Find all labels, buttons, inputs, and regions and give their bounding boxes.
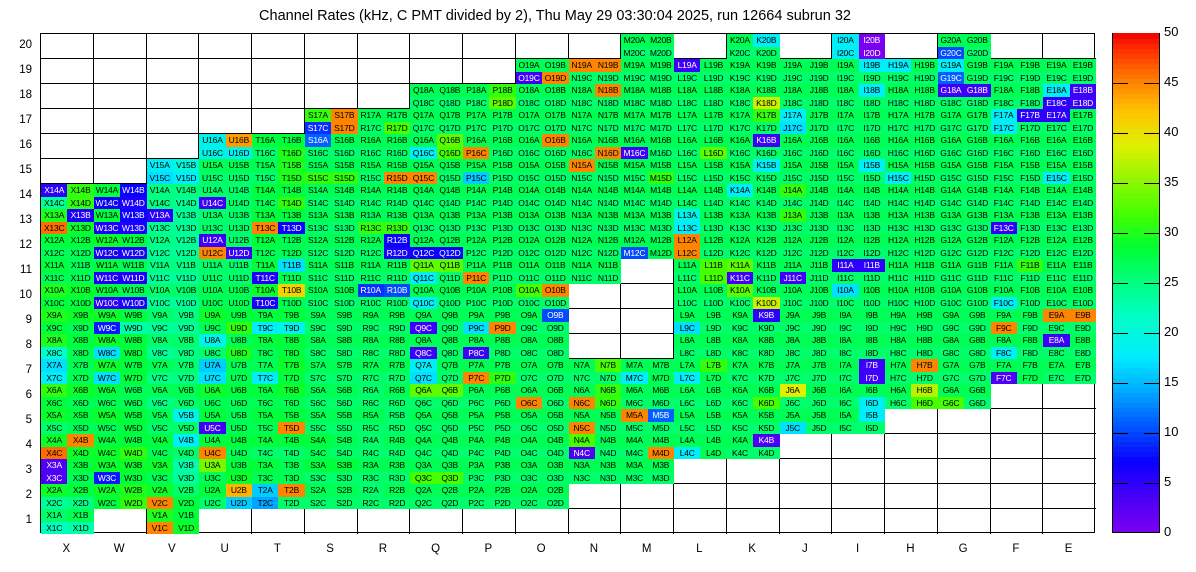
pmt-channel-L5A: L5A: [674, 409, 700, 422]
pmt-channel-Q13C: Q13C: [410, 222, 436, 235]
grid-cell-T20: [252, 34, 305, 59]
pmt-channel-E11B: E11B: [1070, 259, 1096, 272]
grid-cell-S10: S10AS10BS10CS10D: [305, 284, 358, 309]
grid-cell-N5: N5AN5BN5CN5D: [569, 409, 622, 434]
pmt-channel-P14A: P14A: [463, 184, 489, 197]
grid-cell-Q9: Q9AQ9BQ9CQ9D: [410, 309, 463, 334]
pmt-channel-G9C: G9C: [938, 322, 964, 335]
grid-cell-M17: M17AM17BM17CM17D: [621, 109, 674, 134]
pmt-channel-S14D: S14D: [331, 197, 357, 210]
pmt-channel-E7B: E7B: [1070, 359, 1096, 372]
grid-cell-F11: F11AF11BF11CF11D: [991, 259, 1044, 284]
pmt-channel-V8C: V8C: [147, 347, 173, 360]
pmt-channel-I10D: I10D: [859, 297, 885, 310]
grid-cell-H11: H11AH11BH11CH11D: [885, 259, 938, 284]
grid-cell-W12: W12AW12BW12CW12D: [94, 234, 147, 259]
pmt-channel-G9A: G9A: [938, 309, 964, 322]
pmt-channel-S3A: S3A: [305, 459, 331, 472]
pmt-channel-N6B: N6B: [595, 384, 621, 397]
grid-cell-S2: S2AS2BS2CS2D: [305, 484, 358, 509]
pmt-channel-R9D: R9D: [384, 322, 410, 335]
grid-cell-I6: I6AI6BI6CI6D: [832, 384, 885, 409]
pmt-channel-M3D: M3D: [648, 472, 674, 485]
pmt-channel-O11C: O11C: [516, 272, 542, 285]
grid-cell-J10: J10AJ10BJ10CJ10D: [780, 284, 833, 309]
pmt-channel-P13C: P13C: [463, 222, 489, 235]
pmt-channel-M4A: M4A: [621, 434, 647, 447]
pmt-channel-N18B: N18B: [595, 84, 621, 97]
grid-cell-O16: O16AO16BO16CO16D: [516, 134, 569, 159]
grid-cell-Q16: Q16AQ16BQ16CQ16D: [410, 134, 463, 159]
pmt-channel-V7C: V7C: [147, 372, 173, 385]
pmt-channel-J5B: J5B: [806, 409, 832, 422]
pmt-channel-Q7C: Q7C: [410, 372, 436, 385]
pmt-channel-K6B: K6B: [753, 384, 779, 397]
pmt-channel-L9D: L9D: [700, 322, 726, 335]
grid-cell-W4: W4AW4BW4CW4D: [94, 434, 147, 459]
pmt-channel-L11B: L11B: [700, 259, 726, 272]
grid-cell-R7: R7AR7BR7CR7D: [358, 359, 411, 384]
pmt-channel-S10D: S10D: [331, 297, 357, 310]
pmt-channel-P5B: P5B: [489, 409, 515, 422]
pmt-channel-W5B: W5B: [120, 409, 146, 422]
grid-cell-I1: [832, 509, 885, 534]
grid-cell-G16: G16AG16BG16CG16D: [938, 134, 991, 159]
pmt-channel-N15A: N15A: [569, 159, 595, 172]
pmt-channel-F7B: F7B: [1017, 359, 1043, 372]
pmt-channel-G17D: G17D: [964, 122, 990, 135]
pmt-channel-K15C: K15C: [727, 172, 753, 185]
pmt-channel-P16D: P16D: [489, 147, 515, 160]
grid-cell-O2: O2AO2BO2CO2D: [516, 484, 569, 509]
pmt-channel-U11D: U11D: [226, 272, 252, 285]
pmt-channel-Q9C: Q9C: [410, 322, 436, 335]
pmt-channel-V13D: V13D: [173, 222, 199, 235]
grid-cell-X13: X13AX13BX13CX13D: [41, 209, 94, 234]
grid-cell-U4: U4AU4BU4CU4D: [199, 434, 252, 459]
grid-cell-O1: [516, 509, 569, 534]
pmt-channel-N18D: N18D: [595, 97, 621, 110]
grid-cell-M16: M16AM16BM16CM16D: [621, 134, 674, 159]
pmt-channel-R17A: R17A: [358, 109, 384, 122]
pmt-channel-M14A: M14A: [621, 184, 647, 197]
grid-cell-G3: [938, 459, 991, 484]
pmt-channel-W12D: W12D: [120, 247, 146, 260]
pmt-channel-W14D: W14D: [120, 197, 146, 210]
grid-cell-S18: [305, 84, 358, 109]
pmt-channel-M15B: M15B: [648, 159, 674, 172]
pmt-channel-J11C: J11C: [780, 272, 806, 285]
pmt-channel-U2A: U2A: [199, 484, 225, 497]
grid-cell-P3: P3AP3BP3CP3D: [463, 459, 516, 484]
grid-cell-J16: J16AJ16BJ16CJ16D: [780, 134, 833, 159]
grid-cell-P11: P11AP11BP11CP11D: [463, 259, 516, 284]
x-axis-tick-P: P: [458, 543, 518, 555]
pmt-channel-U15A: U15A: [199, 159, 225, 172]
pmt-channel-F15C: F15C: [991, 172, 1017, 185]
pmt-channel-U11A: U11A: [199, 259, 225, 272]
pmt-channel-F19D: F19D: [1017, 72, 1043, 85]
grid-cell-S7: S7AS7BS7CS7D: [305, 359, 358, 384]
pmt-channel-J17C: J17C: [780, 122, 806, 135]
palette-band: [1113, 507, 1159, 513]
pmt-channel-I20D: I20D: [859, 47, 885, 60]
grid-cell-Q19: [410, 59, 463, 84]
pmt-channel-O12A: O12A: [516, 234, 542, 247]
pmt-channel-O10B: O10B: [542, 284, 568, 297]
pmt-channel-P17A: P17A: [463, 109, 489, 122]
grid-cell-I3: [832, 459, 885, 484]
pmt-channel-T12C: T12C: [252, 247, 278, 260]
grid-cell-X11: X11AX11BX11CX11D: [41, 259, 94, 284]
pmt-channel-W2C: W2C: [94, 497, 120, 510]
pmt-channel-R2C: R2C: [358, 497, 384, 510]
pmt-channel-J17A: J17A: [780, 109, 806, 122]
pmt-channel-K5B: K5B: [753, 409, 779, 422]
grid-cell-F18: F18AF18BF18CF18D: [991, 84, 1044, 109]
pmt-channel-R14D: R14D: [384, 197, 410, 210]
grid-cell-O17: O17AO17BO17CO17D: [516, 109, 569, 134]
pmt-channel-F11B: F11B: [1017, 259, 1043, 272]
pmt-channel-J12C: J12C: [780, 247, 806, 260]
palette-label-20: 20: [1164, 324, 1178, 339]
pmt-channel-K16A: K16A: [727, 134, 753, 147]
pmt-channel-U13A: U13A: [199, 209, 225, 222]
pmt-channel-U12B: U12B: [226, 234, 252, 247]
pmt-channel-E9C: E9C: [1043, 322, 1069, 335]
pmt-channel-W8C: W8C: [94, 347, 120, 360]
pmt-channel-M14D: M14D: [648, 197, 674, 210]
heatmap-grid: X1AX1BX1CX1DX2AX2BX2CX2DX3AX3BX3CX3DX4AX…: [41, 34, 1094, 532]
grid-cell-J1: [780, 509, 833, 534]
pmt-channel-H16C: H16C: [885, 147, 911, 160]
pmt-channel-G19C: G19C: [938, 72, 964, 85]
pmt-channel-O16A: O16A: [516, 134, 542, 147]
pmt-channel-N13D: N13D: [595, 222, 621, 235]
grid-cell-L15: L15AL15BL15CL15D: [674, 159, 727, 184]
palette-band: [1113, 193, 1159, 199]
pmt-channel-U8C: U8C: [199, 347, 225, 360]
pmt-channel-S6C: S6C: [305, 397, 331, 410]
grid-cell-U14: U14AU14BU14CU14D: [199, 184, 252, 209]
grid-cell-F1: [991, 509, 1044, 534]
pmt-channel-M18D: M18D: [648, 97, 674, 110]
pmt-channel-L7A: L7A: [674, 359, 700, 372]
grid-cell-R13: R13AR13BR13CR13D: [358, 209, 411, 234]
pmt-channel-L14A: L14A: [674, 184, 700, 197]
pmt-channel-U2C: U2C: [199, 497, 225, 510]
grid-cell-V9: V9AV9BV9CV9D: [147, 309, 200, 334]
pmt-channel-U9C: U9C: [199, 322, 225, 335]
pmt-channel-T11D: T11D: [278, 272, 304, 285]
pmt-channel-R7B: R7B: [384, 359, 410, 372]
pmt-channel-N11A: N11A: [569, 259, 595, 272]
pmt-channel-O6D: O6D: [542, 397, 568, 410]
pmt-channel-O10C: O10C: [516, 297, 542, 310]
grid-cell-G10: G10AG10BG10CG10D: [938, 284, 991, 309]
pmt-channel-I15B: I15B: [859, 159, 885, 172]
pmt-channel-G11D: G11D: [964, 272, 990, 285]
pmt-channel-L18A: L18A: [674, 84, 700, 97]
pmt-channel-F14A: F14A: [991, 184, 1017, 197]
pmt-channel-O12C: O12C: [516, 247, 542, 260]
pmt-channel-S16C: S16C: [305, 147, 331, 160]
x-axis-tick-O: O: [511, 543, 571, 555]
pmt-channel-P12A: P12A: [463, 234, 489, 247]
pmt-channel-E10C: E10C: [1043, 297, 1069, 310]
pmt-channel-I13C: I13C: [832, 222, 858, 235]
pmt-channel-Q5D: Q5D: [437, 422, 463, 435]
pmt-channel-E19C: E19C: [1043, 72, 1069, 85]
pmt-channel-X4A: X4A: [41, 434, 67, 447]
pmt-channel-Q7D: Q7D: [437, 372, 463, 385]
grid-cell-O4: O4AO4BO4CO4D: [516, 434, 569, 459]
grid-cell-K16: K16AK16BK16CK16D: [727, 134, 780, 159]
pmt-channel-K16B: K16B: [753, 134, 779, 147]
pmt-channel-Q15A: Q15A: [410, 159, 436, 172]
pmt-channel-E8B: E8B: [1070, 334, 1096, 347]
pmt-channel-R11B: R11B: [384, 259, 410, 272]
pmt-channel-T13A: T13A: [252, 209, 278, 222]
grid-cell-G9: G9AG9BG9CG9D: [938, 309, 991, 334]
pmt-channel-X13A: X13A: [41, 209, 67, 222]
pmt-channel-H11A: H11A: [885, 259, 911, 272]
pmt-channel-T12A: T12A: [252, 234, 278, 247]
pmt-channel-P13B: P13B: [489, 209, 515, 222]
pmt-channel-K7C: K7C: [727, 372, 753, 385]
pmt-channel-R7C: R7C: [358, 372, 384, 385]
pmt-channel-G16B: G16B: [964, 134, 990, 147]
palette-tick: [1144, 383, 1160, 384]
pmt-channel-I9A: I9A: [832, 309, 858, 322]
pmt-channel-T6B: T6B: [278, 384, 304, 397]
pmt-channel-L19C: L19C: [674, 72, 700, 85]
grid-cell-S9: S9AS9BS9CS9D: [305, 309, 358, 334]
pmt-channel-K6C: K6C: [727, 397, 753, 410]
pmt-channel-U13D: U13D: [226, 222, 252, 235]
grid-cell-I16: I16AI16BI16CI16D: [832, 134, 885, 159]
pmt-channel-Q17C: Q17C: [410, 122, 436, 135]
palette-band: [1113, 158, 1159, 164]
pmt-channel-K12C: K12C: [727, 247, 753, 260]
pmt-channel-S17A: S17A: [305, 109, 331, 122]
pmt-channel-Q4A: Q4A: [410, 434, 436, 447]
y-axis-tick-5: 5: [0, 414, 32, 426]
pmt-channel-F16D: F16D: [1017, 147, 1043, 160]
x-axis-tick-F: F: [986, 543, 1046, 555]
pmt-channel-V3D: V3D: [173, 472, 199, 485]
pmt-channel-I9B: I9B: [859, 309, 885, 322]
pmt-channel-I7B: I7B: [859, 359, 885, 372]
palette-band: [1113, 258, 1159, 264]
pmt-channel-T16D: T16D: [278, 147, 304, 160]
grid-cell-V18: [147, 84, 200, 109]
pmt-channel-J6D: J6D: [806, 397, 832, 410]
palette-label-45: 45: [1164, 74, 1178, 89]
grid-cell-Q10: Q10AQ10BQ10CQ10D: [410, 284, 463, 309]
pmt-channel-V5C: V5C: [147, 422, 173, 435]
grid-cell-X18: [41, 84, 94, 109]
pmt-channel-I17A: I17A: [832, 109, 858, 122]
pmt-channel-T16A: T16A: [252, 134, 278, 147]
pmt-channel-T16B: T16B: [278, 134, 304, 147]
pmt-channel-H16B: H16B: [911, 134, 937, 147]
pmt-channel-R6D: R6D: [384, 397, 410, 410]
pmt-channel-S12C: S12C: [305, 247, 331, 260]
pmt-channel-F11D: F11D: [1017, 272, 1043, 285]
pmt-channel-Q14C: Q14C: [410, 197, 436, 210]
grid-cell-V15: V15AV15BV15CV15D: [147, 159, 200, 184]
pmt-channel-P17B: P17B: [489, 109, 515, 122]
pmt-channel-H12C: H12C: [885, 247, 911, 260]
pmt-channel-K20B: K20B: [753, 34, 779, 47]
pmt-channel-K9C: K9C: [727, 322, 753, 335]
pmt-channel-V9C: V9C: [147, 322, 173, 335]
grid-cell-S13: S13AS13BS13CS13D: [305, 209, 358, 234]
grid-cell-P10: P10AP10BP10CP10D: [463, 284, 516, 309]
pmt-channel-J19B: J19B: [806, 59, 832, 72]
grid-cell-V8: V8AV8BV8CV8D: [147, 334, 200, 359]
grid-cell-P20: [463, 34, 516, 59]
pmt-channel-P14C: P14C: [463, 197, 489, 210]
pmt-channel-L17A: L17A: [674, 109, 700, 122]
palette-tick: [1144, 183, 1160, 184]
pmt-channel-K18B: K18B: [753, 84, 779, 97]
pmt-channel-P11C: P11C: [463, 272, 489, 285]
grid-cell-U8: U8AU8BU8CU8D: [199, 334, 252, 359]
pmt-channel-R12C: R12C: [358, 247, 384, 260]
pmt-channel-O9C: O9C: [516, 322, 542, 335]
grid-cell-T2: T2AT2BT2CT2D: [252, 484, 305, 509]
pmt-channel-I20C: I20C: [832, 47, 858, 60]
pmt-channel-I20B: I20B: [859, 34, 885, 47]
y-axis-tick-17: 17: [0, 114, 32, 126]
pmt-channel-T3A: T3A: [252, 459, 278, 472]
grid-cell-K10: K10AK10BK10CK10D: [727, 284, 780, 309]
grid-cell-W17: [94, 109, 147, 134]
pmt-channel-J12A: J12A: [780, 234, 806, 247]
grid-cell-R1: [358, 509, 411, 534]
palette-band: [1113, 407, 1159, 413]
pmt-channel-F17D: F17D: [1017, 122, 1043, 135]
pmt-channel-K11A: K11A: [727, 259, 753, 272]
pmt-channel-M19B: M19B: [648, 59, 674, 72]
pmt-channel-U9B: U9B: [226, 309, 252, 322]
pmt-channel-E16C: E16C: [1043, 147, 1069, 160]
grid-cell-Q14: Q14AQ14BQ14CQ14D: [410, 184, 463, 209]
pmt-channel-E11A: E11A: [1043, 259, 1069, 272]
pmt-channel-S3B: S3B: [331, 459, 357, 472]
palette-tick: [1112, 433, 1128, 434]
pmt-channel-L5D: L5D: [700, 422, 726, 435]
palette-band: [1113, 511, 1159, 517]
pmt-channel-O9D: O9D: [542, 322, 568, 335]
pmt-channel-G11B: G11B: [964, 259, 990, 272]
grid-cell-H12: H12AH12BH12CH12D: [885, 234, 938, 259]
pmt-channel-G15D: G15D: [964, 172, 990, 185]
grid-cell-H6: H6AH6BH6CH6D: [885, 384, 938, 409]
pmt-channel-O17C: O17C: [516, 122, 542, 135]
grid-cell-T11: T11AT11BT11CT11D: [252, 259, 305, 284]
grid-cell-K8: K8AK8BK8CK8D: [727, 334, 780, 359]
grid-cell-G15: G15AG15BG15CG15D: [938, 159, 991, 184]
grid-cell-U11: U11AU11BU11CU11D: [199, 259, 252, 284]
pmt-channel-N14B: N14B: [595, 184, 621, 197]
grid-cell-F9: F9AF9BF9CF9D: [991, 309, 1044, 334]
grid-cell-V19: [147, 59, 200, 84]
grid-cell-E19: E19AE19BE19CE19D: [1043, 59, 1096, 84]
pmt-channel-I6B: I6B: [859, 384, 885, 397]
pmt-channel-V14A: V14A: [147, 184, 173, 197]
pmt-channel-Q3B: Q3B: [437, 459, 463, 472]
pmt-channel-P3A: P3A: [463, 459, 489, 472]
grid-cell-F5: [991, 409, 1044, 434]
pmt-channel-I9C: I9C: [832, 322, 858, 335]
grid-cell-V1: V1AV1BV1CV1D: [147, 509, 200, 534]
pmt-channel-W13B: W13B: [120, 209, 146, 222]
grid-cell-T8: T8AT8BT8CT8D: [252, 334, 305, 359]
pmt-channel-J6B: J6B: [806, 384, 832, 397]
grid-cell-H7: H7AH7BH7CH7D: [885, 359, 938, 384]
pmt-channel-N13C: N13C: [569, 222, 595, 235]
pmt-channel-P15A: P15A: [463, 159, 489, 172]
pmt-channel-H12A: H12A: [885, 234, 911, 247]
grid-cell-F4: [991, 434, 1044, 459]
pmt-channel-K9A: K9A: [727, 309, 753, 322]
grid-cell-P6: P6AP6BP6CP6D: [463, 384, 516, 409]
grid-cell-R18: [358, 84, 411, 109]
grid-cell-T17: [252, 109, 305, 134]
pmt-channel-N13A: N13A: [569, 209, 595, 222]
pmt-channel-N16A: N16A: [569, 134, 595, 147]
pmt-channel-K14C: K14C: [727, 197, 753, 210]
pmt-channel-N5D: N5D: [595, 422, 621, 435]
pmt-channel-J9B: J9B: [806, 309, 832, 322]
pmt-channel-J10A: J10A: [780, 284, 806, 297]
pmt-channel-R11C: R11C: [358, 272, 384, 285]
pmt-channel-X6B: X6B: [67, 384, 93, 397]
pmt-channel-R3C: R3C: [358, 472, 384, 485]
pmt-channel-X7C: X7C: [41, 372, 67, 385]
x-axis-tick-I: I: [828, 543, 888, 555]
pmt-channel-N19C: N19C: [569, 72, 595, 85]
palette-band: [1113, 302, 1159, 308]
pmt-channel-P11B: P11B: [489, 259, 515, 272]
grid-cell-M12: M12AM12BM12CM12D: [621, 234, 674, 259]
pmt-channel-Q9D: Q9D: [437, 322, 463, 335]
pmt-channel-I14D: I14D: [859, 197, 885, 210]
pmt-channel-Q15D: Q15D: [437, 172, 463, 185]
pmt-channel-Q16C: Q16C: [410, 147, 436, 160]
pmt-channel-R14A: R14A: [358, 184, 384, 197]
pmt-channel-R11A: R11A: [358, 259, 384, 272]
pmt-channel-W9A: W9A: [94, 309, 120, 322]
pmt-channel-E16D: E16D: [1070, 147, 1096, 160]
pmt-channel-U7B: U7B: [226, 359, 252, 372]
grid-cell-G20: G20AG20BG20CG20D: [938, 34, 991, 59]
y-axis-tick-7: 7: [0, 364, 32, 376]
pmt-channel-H6A: H6A: [885, 384, 911, 397]
grid-cell-S12: S12AS12BS12CS12D: [305, 234, 358, 259]
pmt-channel-I11C: I11C: [832, 272, 858, 285]
pmt-channel-J16C: J16C: [780, 147, 806, 160]
grid-cell-P7: P7AP7BP7CP7D: [463, 359, 516, 384]
pmt-channel-H6D: H6D: [911, 397, 937, 410]
pmt-channel-V13A: V13A: [147, 209, 173, 222]
pmt-channel-X3A: X3A: [41, 459, 67, 472]
grid-cell-V16: [147, 134, 200, 159]
palette-band: [1113, 248, 1159, 254]
